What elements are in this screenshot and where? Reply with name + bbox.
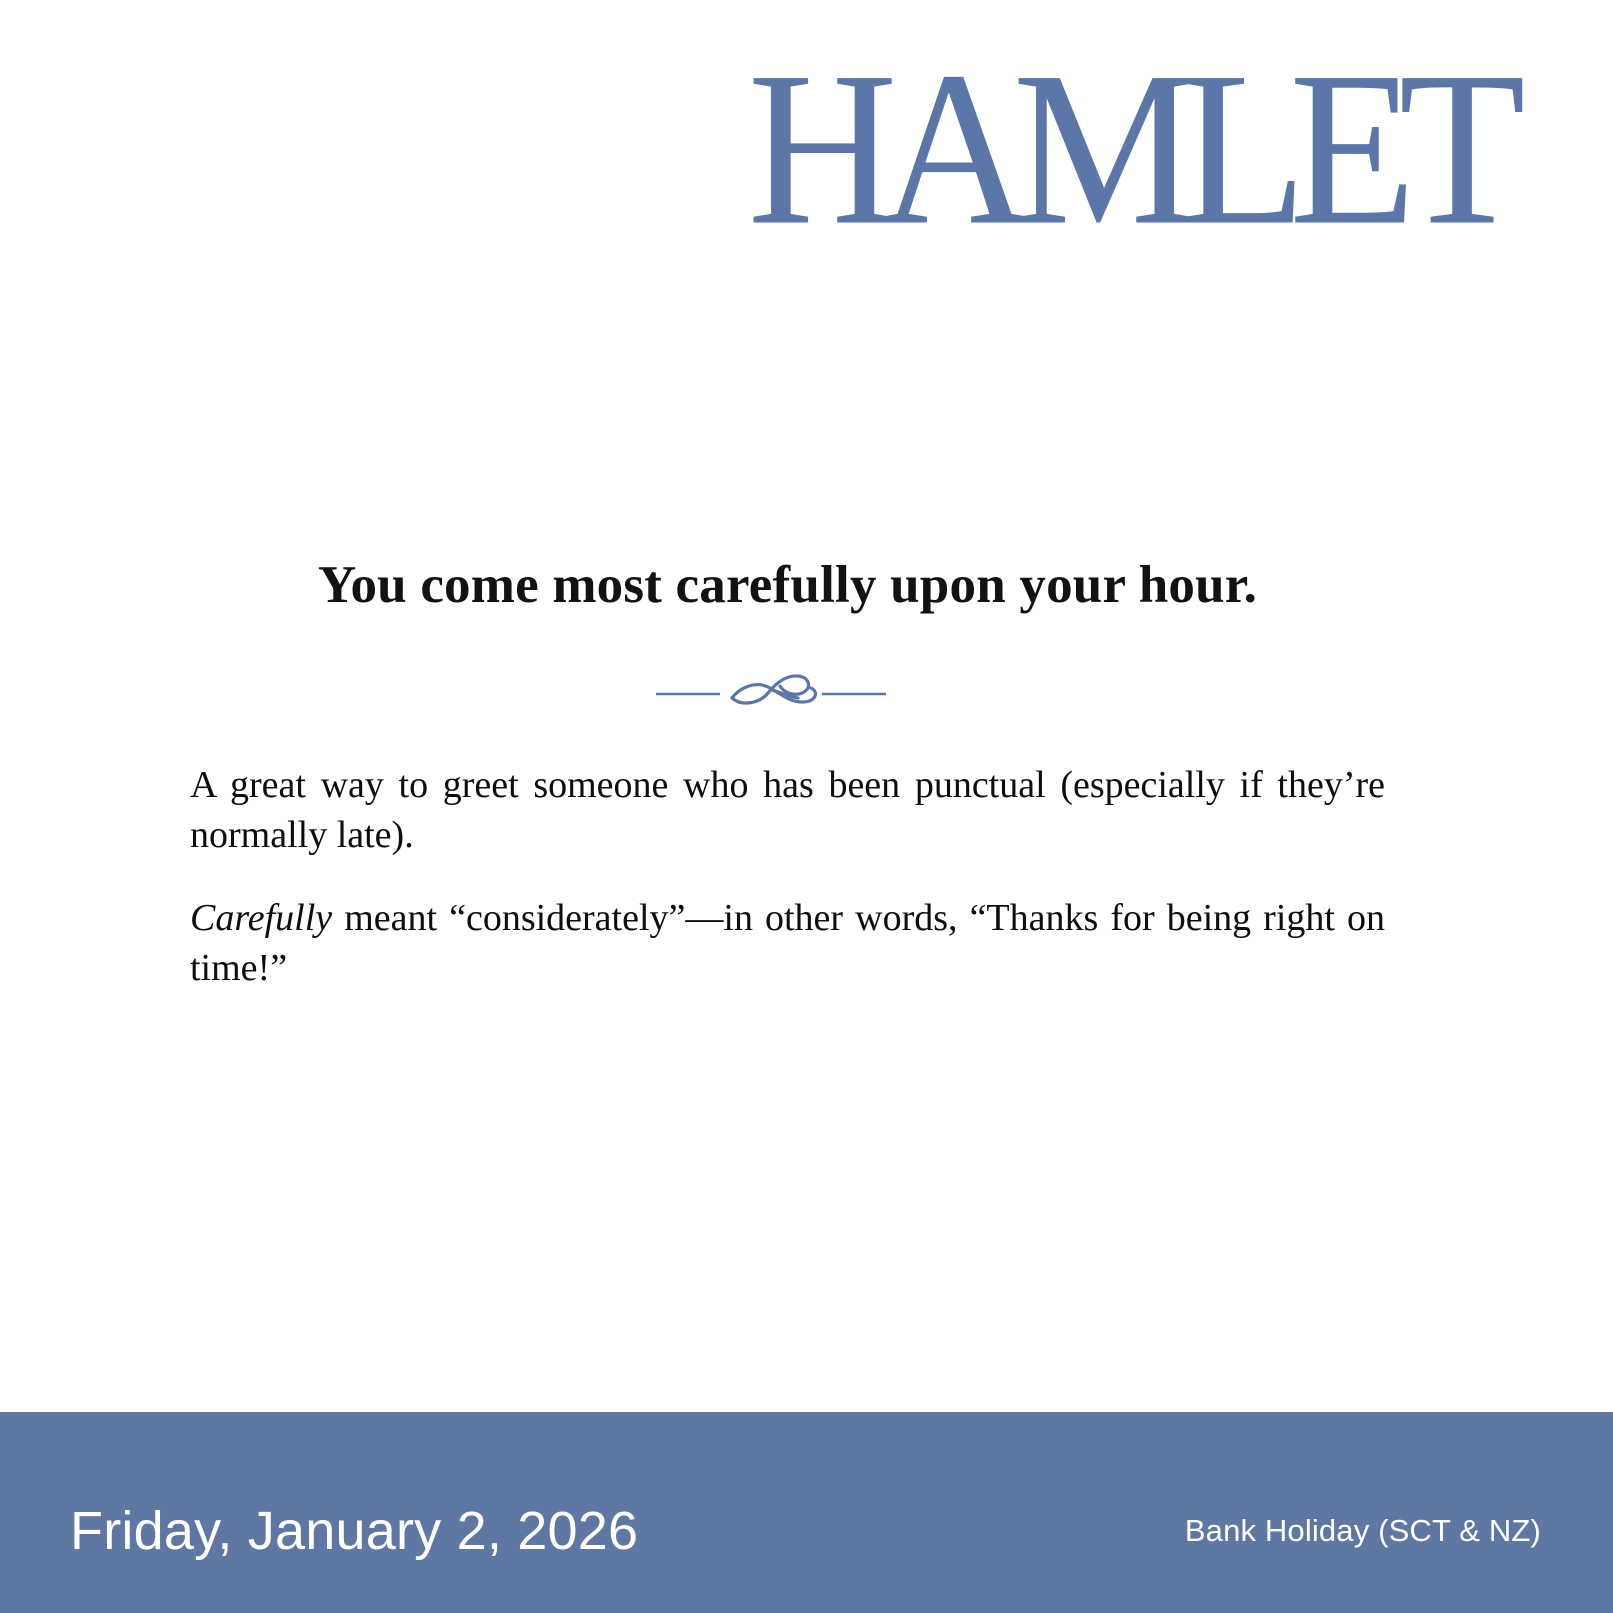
flourish-icon: [656, 663, 886, 709]
masthead: HAMLET: [0, 0, 1613, 250]
commentary-body: A great way to greet someone who has bee…: [190, 761, 1385, 993]
play-title: HAMLET: [748, 38, 1508, 258]
commentary-paragraph-2: Carefully meant “considerately”—in other…: [190, 894, 1385, 993]
page-canvas: HAMLET You come most carefully upon your…: [0, 0, 1613, 1613]
quote-headline: You come most carefully upon your hour.: [190, 556, 1385, 615]
footer-holiday-note: Bank Holiday (SCT & NZ): [1185, 1515, 1541, 1546]
footer-bar: Friday, January 2, 2026 Bank Holiday (SC…: [0, 1412, 1613, 1613]
main-content: You come most carefully upon your hour. …: [190, 556, 1385, 993]
commentary-emphasis-word: Carefully: [190, 897, 332, 939]
commentary-paragraph-2-rest: meant “considerately”—in other words, “T…: [190, 897, 1385, 988]
flourish-glyph: [732, 676, 815, 703]
ornamental-divider: [656, 663, 886, 709]
commentary-paragraph-1: A great way to greet someone who has bee…: [190, 761, 1385, 860]
footer-date: Friday, January 2, 2026: [70, 1504, 638, 1558]
